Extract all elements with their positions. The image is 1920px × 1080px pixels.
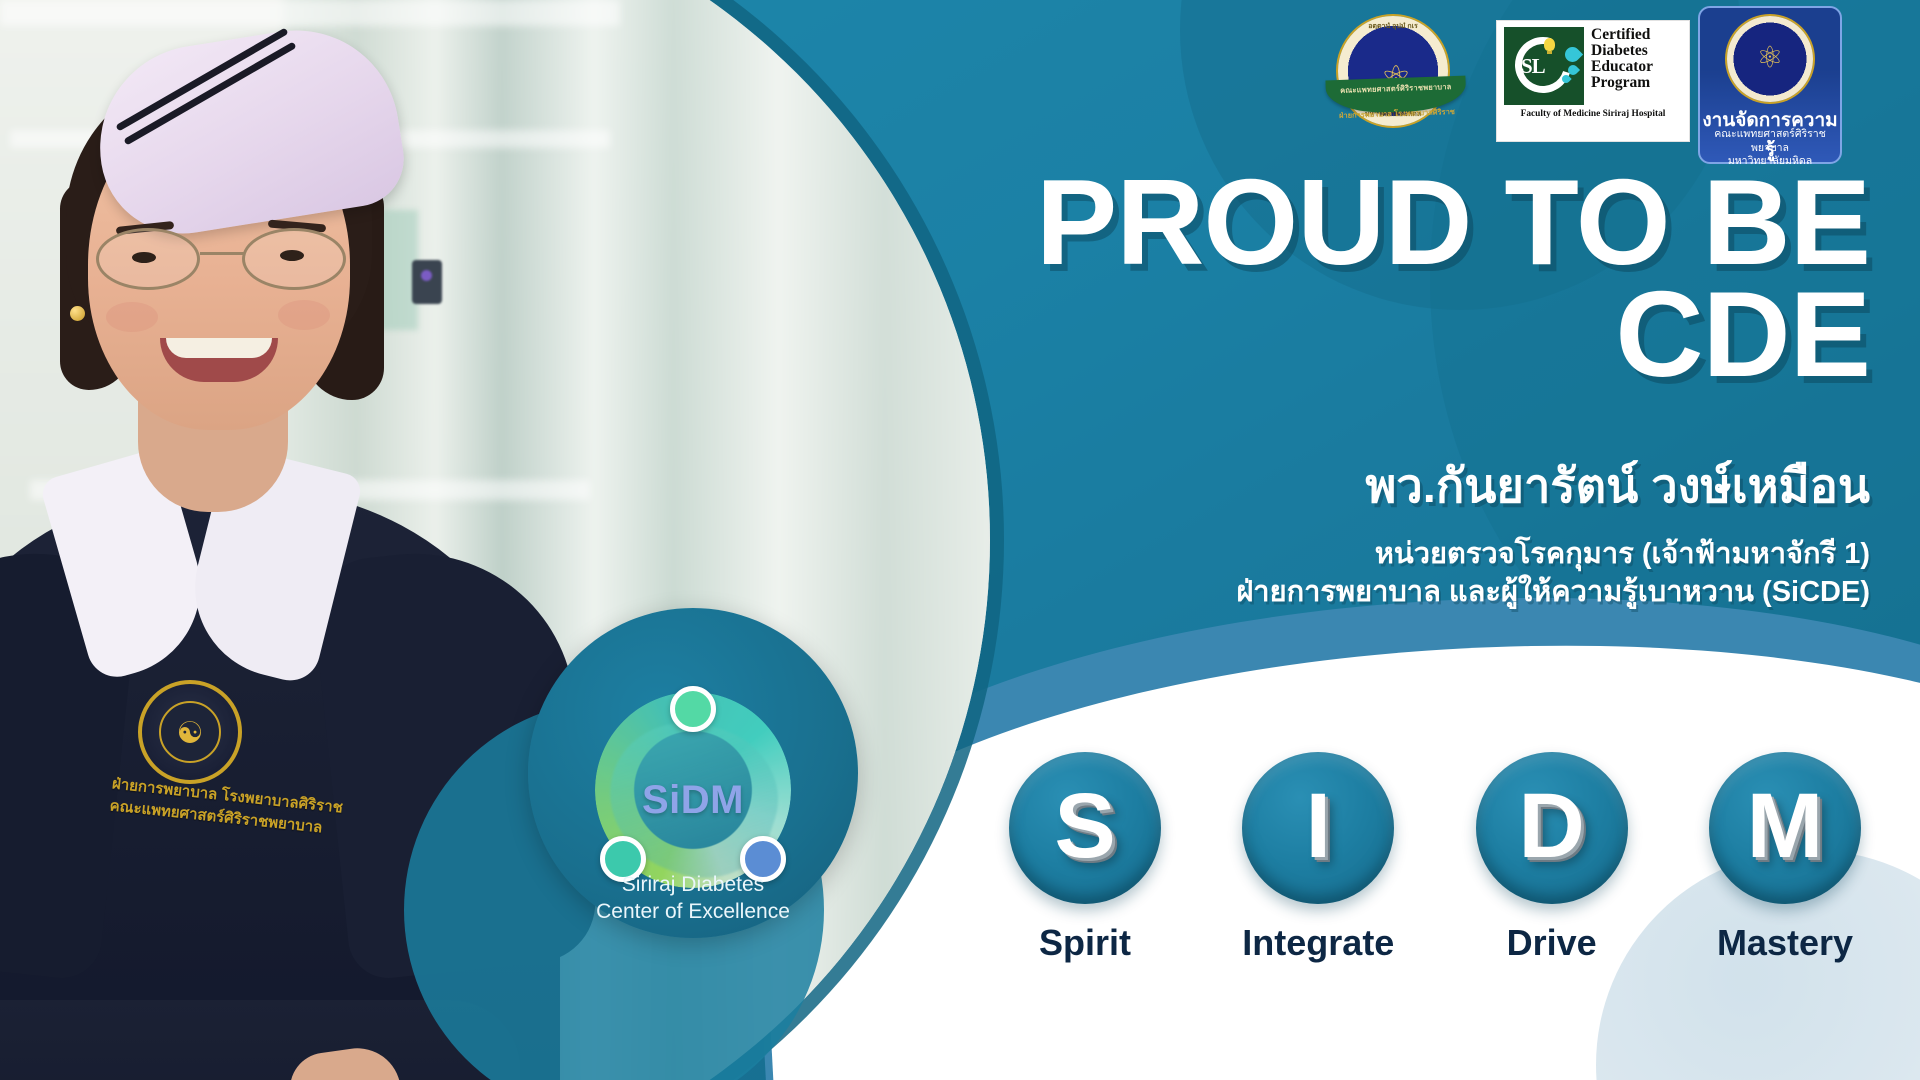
value-item-spirit[interactable]: S Spirit bbox=[995, 752, 1175, 964]
cde-sl-letters: SL bbox=[1521, 54, 1545, 79]
mahidol-university-seal-logo: อตฺตานํ อุปมํ กเร มหาวิทยาลัยมหิดล ⚛ คณะ… bbox=[1330, 14, 1462, 146]
cde-word-line2: Diabetes bbox=[1591, 43, 1653, 59]
cde-word-line1: Certified bbox=[1591, 27, 1653, 43]
value-label-spirit: Spirit bbox=[995, 922, 1175, 964]
seal-arc-top: อตฺตานํ อุปมํ กเร bbox=[1368, 21, 1418, 32]
sidm-acronym: SiDM bbox=[528, 778, 858, 823]
nurse-cheek-right bbox=[278, 300, 330, 330]
lightbulb-icon bbox=[1544, 38, 1555, 51]
cde-word-line3: Educator bbox=[1591, 59, 1653, 75]
speaker-name: พว.กันยารัตน์ วงษ์เหมือน bbox=[940, 460, 1870, 512]
value-circle-s[interactable]: S bbox=[1009, 752, 1161, 904]
sidm-dot-top-icon bbox=[670, 686, 716, 732]
value-letter-m: M bbox=[1709, 780, 1861, 872]
certified-diabetes-educator-program-logo: SL Certified Diabetes Educator Program F… bbox=[1496, 20, 1690, 142]
headline-line-1: PROUD TO BE bbox=[940, 166, 1870, 278]
km-seal-icon: ⚛ bbox=[1727, 16, 1813, 102]
sidm-values-row: S Spirit I Integrate D Drive M Mastery bbox=[995, 752, 1875, 1052]
speaker-affiliation: หน่วยตรวจโรคกุมาร (เจ้าฟ้ามหาจักรี 1) ฝ่… bbox=[900, 535, 1870, 612]
value-letter-s: S bbox=[1009, 780, 1161, 872]
km-subtitle-line1: คณะแพทยศาสตร์ศิริราชพยาบาล bbox=[1700, 128, 1840, 155]
value-item-mastery[interactable]: M Mastery bbox=[1695, 752, 1875, 964]
nurse-eye-left bbox=[132, 252, 156, 263]
sidm-center-badge: SiDM Siriraj Diabetes Center of Excellen… bbox=[528, 608, 858, 938]
value-label-integrate: Integrate bbox=[1228, 922, 1408, 964]
value-letter-d: D bbox=[1476, 780, 1628, 872]
km-seal-emblem-icon: ⚛ bbox=[1757, 43, 1784, 73]
value-label-drive: Drive bbox=[1462, 922, 1642, 964]
cde-logo-row: SL Certified Diabetes Educator Program bbox=[1504, 27, 1682, 105]
seal-ribbon-text: คณะแพทยศาสตร์ศิริราชพยาบาล bbox=[1326, 81, 1466, 98]
value-circle-i[interactable]: I bbox=[1242, 752, 1394, 904]
sidm-subtitle-line-1: Siriraj Diabetes bbox=[528, 872, 858, 899]
nurse-cheek-left bbox=[106, 302, 158, 332]
value-label-mastery: Mastery bbox=[1695, 922, 1875, 964]
speaker-affiliation-line-2: ฝ่ายการพยาบาล และผู้ให้ความรู้เบาหวาน (S… bbox=[900, 573, 1870, 611]
uniform-crest-emblem: ☯ bbox=[177, 719, 204, 749]
cde-word-line4: Program bbox=[1591, 75, 1653, 91]
cde-footer-text: Faculty of Medicine Siriraj Hospital bbox=[1504, 108, 1682, 119]
value-circle-d[interactable]: D bbox=[1476, 752, 1628, 904]
earring-icon bbox=[70, 306, 85, 321]
value-item-drive[interactable]: D Drive bbox=[1462, 752, 1642, 964]
cde-mark-icon: SL bbox=[1504, 27, 1584, 105]
headline-line-2: CDE bbox=[940, 278, 1870, 390]
value-letter-i: I bbox=[1242, 780, 1394, 872]
nurse-teeth bbox=[166, 338, 272, 358]
cde-wordmark: Certified Diabetes Educator Program bbox=[1591, 27, 1653, 105]
knowledge-management-unit-logo: ⚛ งานจัดการความรู้ คณะแพทยศาสตร์ศิริราชพ… bbox=[1698, 6, 1842, 164]
eyeglass-bridge bbox=[200, 252, 244, 255]
nurse-eye-right bbox=[280, 250, 304, 261]
value-item-integrate[interactable]: I Integrate bbox=[1228, 752, 1408, 964]
speaker-affiliation-line-1: หน่วยตรวจโรคกุมาร (เจ้าฟ้ามหาจักรี 1) bbox=[900, 535, 1870, 573]
uniform-crest-icon: ☯ bbox=[138, 680, 242, 784]
sidm-subtitle-line-2: Center of Excellence bbox=[528, 899, 858, 926]
poster-canvas: ☯ ฝ่ายการพยาบาล โรงพยาบาลศิริราช คณะแพทย… bbox=[0, 0, 1920, 1080]
eyeglasses-icon bbox=[92, 228, 350, 290]
value-circle-m[interactable]: M bbox=[1709, 752, 1861, 904]
page-title: PROUD TO BE CDE bbox=[940, 166, 1870, 390]
logo-strip: อตฺตานํ อุปมํ กเร มหาวิทยาลัยมหิดล ⚛ คณะ… bbox=[1330, 6, 1910, 172]
sidm-subtitle: Siriraj Diabetes Center of Excellence bbox=[528, 872, 858, 926]
